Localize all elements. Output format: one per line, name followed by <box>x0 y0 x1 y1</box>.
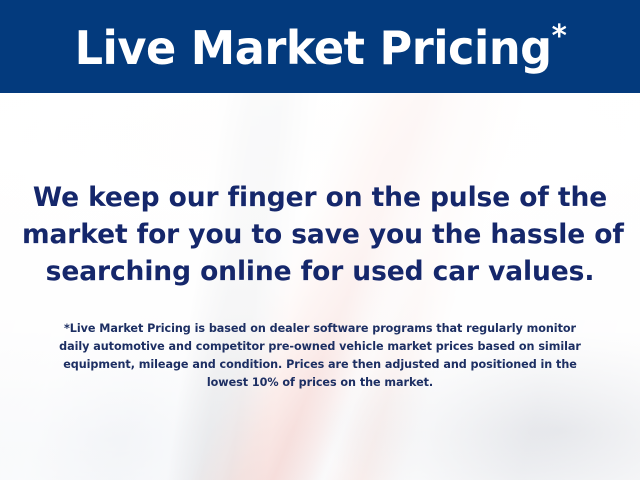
page-title-asterisk: * <box>551 19 566 54</box>
disclaimer-line-4: lowest 10% of prices on the market. <box>30 374 610 392</box>
page-title: Live Market Pricing* <box>74 22 566 71</box>
disclaimer-line-1: *Live Market Pricing is based on dealer … <box>30 320 610 338</box>
headline-line-3: searching online for used car values. <box>22 253 618 290</box>
banner-content: We keep our finger on the pulse of the m… <box>0 93 640 480</box>
page-title-text: Live Market Pricing <box>74 21 551 75</box>
live-market-pricing-banner: Live Market Pricing* We keep our finger … <box>0 0 640 480</box>
headline-line-1: We keep our finger on the pulse of the <box>22 179 618 216</box>
header-bar: Live Market Pricing* <box>0 0 640 93</box>
headline-line-2: market for you to save you the hassle of <box>22 216 618 253</box>
disclaimer-text: *Live Market Pricing is based on dealer … <box>30 320 610 392</box>
headline: We keep our finger on the pulse of the m… <box>22 179 618 290</box>
disclaimer-line-2: daily automotive and competitor pre-owne… <box>30 338 610 356</box>
disclaimer-line-3: equipment, mileage and condition. Prices… <box>30 356 610 374</box>
